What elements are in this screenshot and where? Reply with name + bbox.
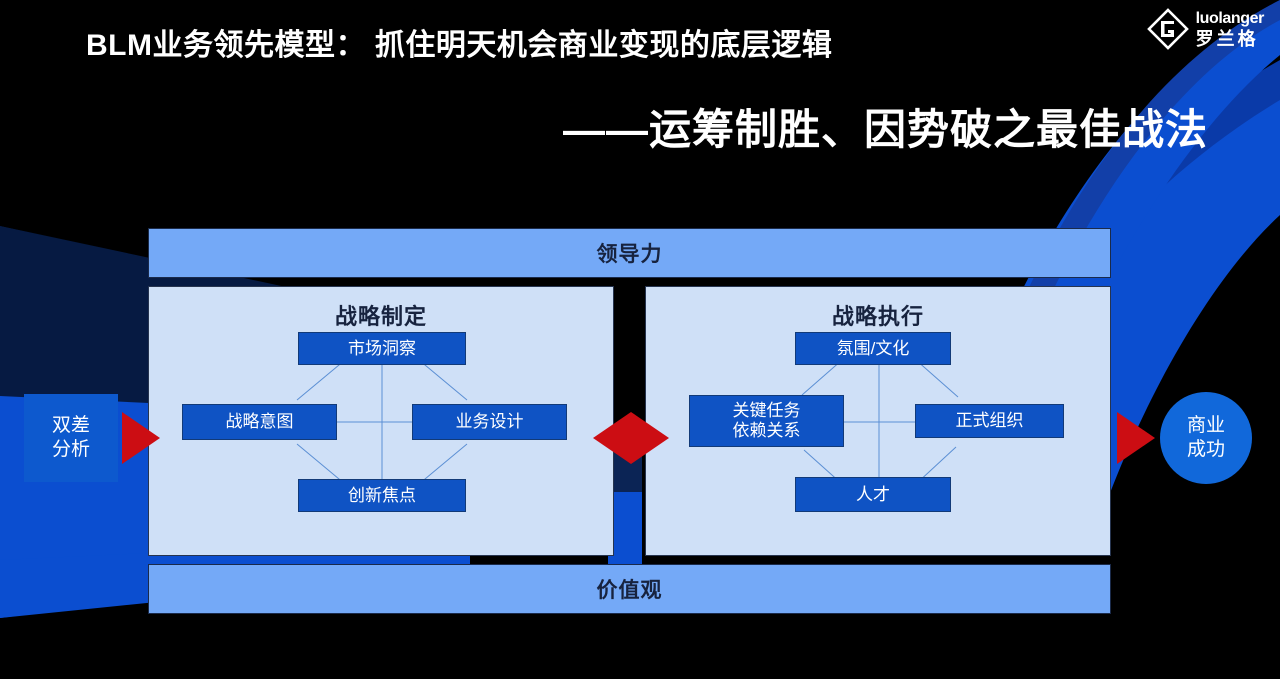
- node-culture[interactable]: 氛围/文化: [795, 332, 951, 365]
- node-key-tasks[interactable]: 关键任务 依赖关系: [689, 395, 844, 447]
- slide-canvas: BLM业务领先模型： 抓住明天机会商业变现的底层逻辑 ——运筹制胜、因势破之最佳…: [0, 0, 1280, 679]
- arrow-right-icon: [631, 412, 669, 464]
- brand-logo: luolanger 罗兰格: [1147, 8, 1264, 50]
- node-innovation-focus[interactable]: 创新焦点: [298, 479, 466, 512]
- diamond-g-logo-icon: [1147, 8, 1189, 50]
- node-business-design[interactable]: 业务设计: [412, 404, 567, 440]
- logo-wordmark: luolanger 罗兰格: [1196, 11, 1264, 48]
- strategy-execution-panel: 战略执行 氛围/文化 关键任务 依赖关系 正式组织 人才: [645, 286, 1111, 556]
- node-talent[interactable]: 人才: [795, 477, 951, 512]
- arrow-right-icon: [1117, 412, 1155, 464]
- strategy-formulation-panel: 战略制定 市场洞察 战略意图 业务设计 创新焦点: [148, 286, 614, 556]
- node-formal-organization[interactable]: 正式组织: [915, 404, 1064, 438]
- business-success-circle[interactable]: 商业 成功: [1160, 392, 1252, 484]
- logo-english-text: luolanger: [1196, 11, 1264, 27]
- logo-chinese-text: 罗兰格: [1196, 30, 1264, 48]
- node-market-insight[interactable]: 市场洞察: [298, 332, 466, 365]
- arrow-right-icon: [122, 412, 160, 464]
- page-title: BLM业务领先模型： 抓住明天机会商业变现的底层逻辑: [86, 20, 832, 64]
- page-subtitle: ——运筹制胜、因势破之最佳战法: [563, 96, 1208, 157]
- leadership-band: 领导力: [148, 228, 1111, 278]
- gap-analysis-box[interactable]: 双差 分析: [24, 394, 118, 482]
- node-strategic-intent[interactable]: 战略意图: [182, 404, 337, 440]
- arrow-left-icon: [593, 412, 631, 464]
- values-band: 价值观: [148, 564, 1111, 614]
